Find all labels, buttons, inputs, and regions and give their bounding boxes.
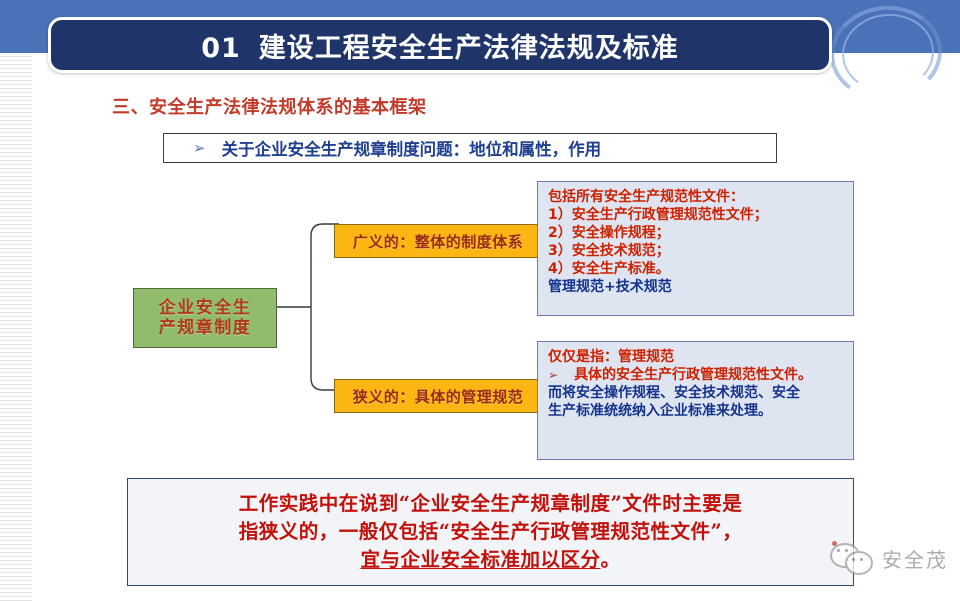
conclusion-line-3: 宜与企业安全标准加以区分。 [360, 546, 620, 574]
detail-line: 仅仅是指：管理规范 [548, 349, 847, 367]
slide-title-bar: 01建设工程安全生产法律法规及标准 [48, 17, 832, 73]
source-node-line1: 企业安全生 [159, 298, 252, 318]
detail-bullet-row: ➢ 具体的安全生产行政管理规范性文件。 [548, 367, 847, 385]
arrow-bullet-icon: ➢ [548, 367, 558, 384]
branch-node-narrow-label: 狭义的：具体的管理规范 [353, 386, 524, 407]
detail-line: 3）安全技术规范； [548, 243, 847, 261]
right-edge-strip [956, 53, 960, 601]
source-node-line2: 产规章制度 [159, 318, 252, 338]
detail-line: 2）安全操作规程； [548, 225, 847, 243]
branch-node-broad: 广义的：整体的制度体系 [334, 224, 542, 258]
wechat-icon [830, 541, 874, 575]
detail-line: 管理规范+技术规范 [548, 279, 847, 297]
detail-box-narrow: 仅仅是指：管理规范 ➢ 具体的安全生产行政管理规范性文件。 而将安全操作规程、安… [537, 341, 854, 460]
subtitle-box: ➢ 关于企业安全生产规章制度问题：地位和属性，作用 [163, 133, 777, 163]
detail-line: 包括所有安全生产规范性文件： [548, 189, 847, 207]
title-number: 01 [201, 33, 241, 64]
conclusion-line-3-tail: 。 [601, 548, 621, 571]
branch-node-broad-label: 广义的：整体的制度体系 [353, 231, 524, 252]
conclusion-line-1: 工作实践中在说到“企业安全生产规章制度”文件时主要是 [239, 490, 742, 518]
diagram-source-node: 企业安全生 产规章制度 [133, 288, 277, 348]
detail-line: 而将安全操作规程、安全技术规范、安全 [548, 385, 847, 403]
conclusion-box: 工作实践中在说到“企业安全生产规章制度”文件时主要是 指狭义的，一般仅包括“安全… [127, 478, 854, 586]
arrow-bullet-icon: ➢ [193, 141, 206, 156]
left-stripe-decoration [0, 53, 32, 601]
conclusion-line-2: 指狭义的，一般仅包括“安全生产行政管理规范性文件”， [239, 518, 742, 546]
detail-line: 具体的安全生产行政管理规范性文件。 [574, 367, 812, 385]
title-label: 建设工程安全生产法律法规及标准 [259, 33, 679, 64]
detail-line: 1）安全生产行政管理规范性文件； [548, 207, 847, 225]
detail-line: 生产标准统统纳入企业标准来处理。 [548, 403, 847, 421]
watermark-text: 安全茂 [882, 544, 948, 573]
detail-box-broad: 包括所有安全生产规范性文件： 1）安全生产行政管理规范性文件； 2）安全操作规程… [537, 181, 854, 316]
section-heading: 三、安全生产法律法规体系的基本框架 [112, 93, 427, 119]
conclusion-emphasis: 宜与企业安全标准加以区分 [360, 548, 600, 571]
slide-canvas: 01建设工程安全生产法律法规及标准 三、安全生产法律法规体系的基本框架 ➢ 关于… [0, 0, 960, 601]
watermark: 安全茂 [830, 541, 948, 575]
subtitle-text: 关于企业安全生产规章制度问题：地位和属性，作用 [222, 136, 602, 160]
detail-line: 4）安全生产标准。 [548, 261, 847, 279]
page-title: 01建设工程安全生产法律法规及标准 [201, 26, 679, 65]
branch-node-narrow: 狭义的：具体的管理规范 [334, 379, 542, 413]
left-blue-band [0, 0, 32, 53]
